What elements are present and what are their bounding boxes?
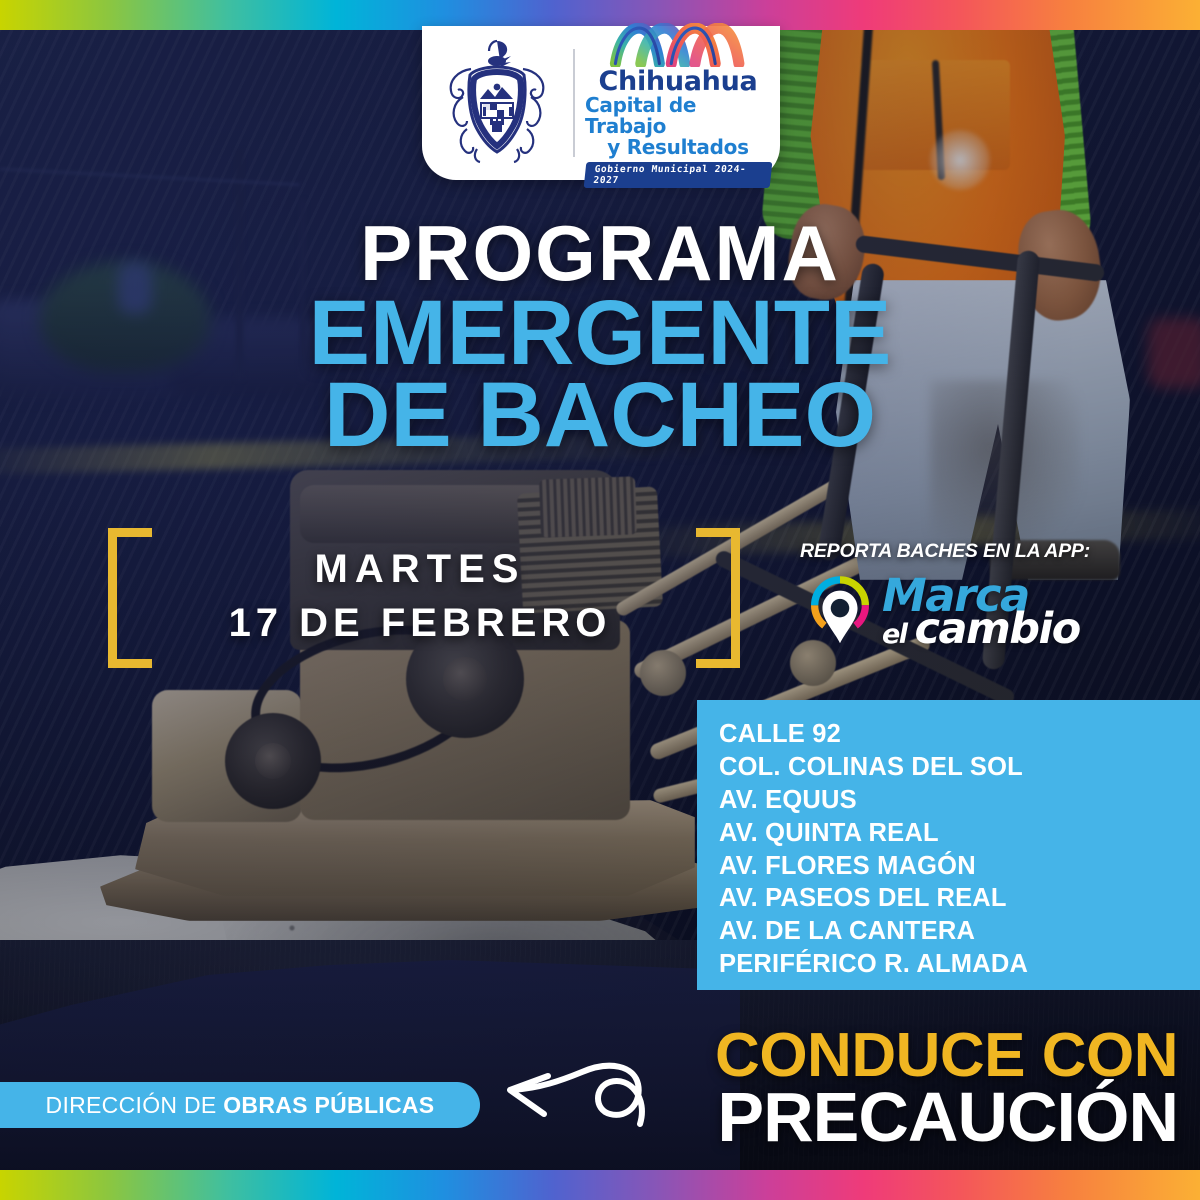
chihuahua-brand-lockup: Chihuahua Capital de Trabajo y Resultado… — [585, 19, 771, 188]
compactor-pulley-small-hub — [255, 743, 291, 779]
headline-line-3: DE BACHEO — [0, 369, 1200, 461]
app-name-line2: el cambio — [882, 612, 1080, 647]
list-item: AV. FLORES MAGÓN — [719, 850, 1200, 883]
government-logo-card: Chihuahua Capital de Trabajo y Resultado… — [422, 26, 780, 180]
brand-slogan-line1: Capital de Trabajo — [585, 95, 771, 137]
list-item: AV. DE LA CANTERA — [719, 915, 1200, 948]
chihuahua-wave-logo-icon — [609, 23, 747, 67]
logo-divider — [573, 49, 575, 157]
list-item: AV. PASEOS DEL REAL — [719, 882, 1200, 915]
coat-of-arms-icon — [431, 33, 563, 173]
date-text: MARTES 17 DE FEBRERO — [160, 542, 680, 650]
brand-city-name: Chihuahua — [599, 68, 758, 95]
footer-prefix: DIRECCIÓN DE — [46, 1092, 224, 1118]
footer-strong: OBRAS PÚBLICAS — [223, 1092, 434, 1118]
list-item: PERIFÉRICO R. ALMADA — [719, 948, 1200, 981]
app-wordmark: Marca el cambio — [882, 578, 1080, 647]
headline-line-1: PROGRAMA — [0, 216, 1200, 291]
list-item: CALLE 92 — [719, 718, 1200, 751]
date-block: MARTES 17 DE FEBRERO — [100, 528, 740, 668]
worker-vest-stain — [930, 130, 990, 190]
poster-canvas: Chihuahua Capital de Trabajo y Resultado… — [0, 0, 1200, 1200]
right-bracket-icon — [696, 528, 740, 668]
list-item: AV. QUINTA REAL — [719, 817, 1200, 850]
caution-line-2: PRECAUCIÓN — [715, 1084, 1178, 1152]
list-item: COL. COLINAS DEL SOL — [719, 751, 1200, 784]
date-weekday: MARTES — [160, 542, 680, 596]
list-item: AV. EQUUS — [719, 784, 1200, 817]
brand-term-badge: Gobierno Municipal 2024-2027 — [584, 162, 773, 188]
bottom-rainbow-bar — [0, 1170, 1200, 1200]
left-bracket-icon — [108, 528, 152, 668]
department-footer-pill: DIRECCIÓN DE OBRAS PÚBLICAS — [0, 1082, 480, 1128]
report-app-block: REPORTA BACHES EN LA APP: Marca el cambi… — [790, 540, 1100, 651]
caution-message: CONDUCE CON PRECAUCIÓN — [715, 1026, 1178, 1152]
location-pin-icon — [804, 575, 876, 651]
app-name-el: el — [882, 619, 914, 650]
brand-slogan-line2: y Resultados — [607, 137, 748, 158]
date-day-month: 17 DE FEBRERO — [160, 596, 680, 650]
app-call-to-action-label: REPORTA BACHES EN LA APP: — [790, 540, 1100, 563]
page-title: PROGRAMA EMERGENTE DE BACHEO — [0, 216, 1200, 461]
app-name-cambio: cambio — [914, 604, 1079, 654]
curly-arrow-icon — [470, 1032, 650, 1142]
street-list-panel: CALLE 92 COL. COLINAS DEL SOL AV. EQUUS … — [697, 700, 1200, 990]
footer-text: DIRECCIÓN DE OBRAS PÚBLICAS — [46, 1092, 435, 1119]
marca-el-cambio-logo[interactable]: Marca el cambio — [790, 575, 1100, 651]
